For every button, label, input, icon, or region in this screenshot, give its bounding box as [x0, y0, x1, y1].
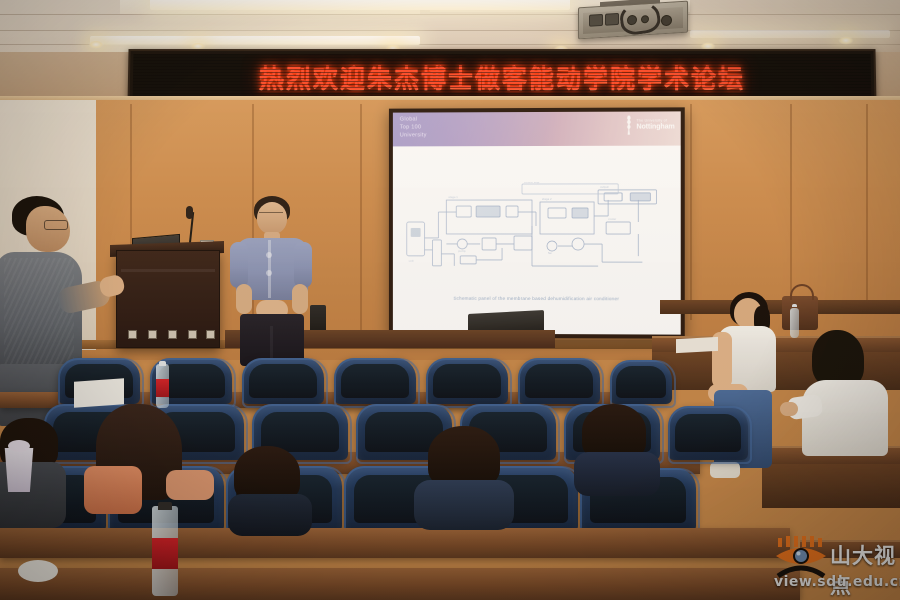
water-bottle-front-row	[152, 506, 178, 596]
svg-text:output: output	[600, 185, 609, 189]
attendee-center-mid	[228, 446, 312, 532]
cup-lid	[18, 560, 58, 582]
slide-header-line-1: Global	[400, 115, 427, 123]
logo-big-text: Nottingham	[636, 123, 674, 130]
attendee-top	[414, 480, 514, 530]
attendee-center-front	[418, 426, 514, 526]
notebook-on-desk	[676, 337, 718, 353]
presenter-standing	[228, 196, 320, 356]
slide-body: unitstage 1 stage 2output pumpfan cooler…	[393, 146, 681, 335]
ceiling-downlight	[88, 40, 104, 49]
projection-screen: Global Top 100 University The University…	[389, 107, 685, 338]
paper-sheet	[74, 378, 124, 407]
ceiling-light-strip	[150, 0, 570, 10]
water-bottle-center	[156, 364, 169, 408]
attendee-top	[802, 380, 888, 456]
attendee-top	[228, 494, 312, 536]
logo-small-text: The University of	[636, 120, 674, 124]
svg-text:unit: unit	[409, 259, 414, 263]
slide-header: Global Top 100 University The University…	[393, 111, 681, 146]
seat	[334, 358, 416, 404]
banner-text: 热烈欢迎朱杰博士做客能动学院学术论坛	[259, 59, 745, 95]
ceiling-light-strip	[690, 30, 890, 38]
water-bottle-right-desk	[790, 308, 799, 338]
svg-text:pump: pump	[458, 250, 466, 253]
slide-caption: Schematic panel of the membrane based de…	[405, 296, 669, 302]
svg-text:fan: fan	[548, 251, 553, 255]
attendee-woman-right-back	[802, 330, 894, 520]
attendee-top	[84, 466, 142, 514]
seat	[518, 358, 600, 404]
nottingham-crest-icon	[624, 116, 633, 135]
slide-header-line-3: University	[400, 131, 427, 139]
ceiling-downlight	[838, 36, 854, 45]
attendee-center-row	[576, 404, 658, 494]
lecture-hall-photo: 热烈欢迎朱杰博士做客能动学院学术论坛 Global Top 100 Univer…	[0, 0, 900, 600]
attendee-top	[574, 452, 660, 496]
svg-text:control loop: control loop	[524, 182, 540, 184]
watermark-title: 山大视点	[830, 540, 896, 600]
svg-text:stage 1: stage 1	[448, 195, 458, 199]
seat	[610, 360, 672, 404]
desk-row-near	[0, 528, 790, 558]
watermark: 山大视点 view.sdu.edu.cn	[772, 534, 896, 596]
presenter-head	[257, 202, 287, 234]
seat	[426, 358, 508, 404]
microphone-head-icon	[186, 206, 193, 219]
desk-row-nearest	[0, 568, 800, 600]
watermark-url: view.sdu.edu.cn	[774, 574, 900, 590]
seat	[242, 358, 324, 404]
nottingham-logo: The University of Nottingham	[624, 115, 674, 134]
slide-header-line-2: Top 100	[400, 123, 427, 131]
ceiling-light-strip	[90, 36, 420, 45]
svg-text:cooler: cooler	[608, 217, 617, 221]
svg-text:stage 2: stage 2	[542, 197, 552, 201]
slide-schematic-diagram: unitstage 1 stage 2output pumpfan cooler…	[403, 182, 665, 278]
seat	[668, 406, 748, 460]
attendee-long-hair-front	[88, 404, 208, 524]
